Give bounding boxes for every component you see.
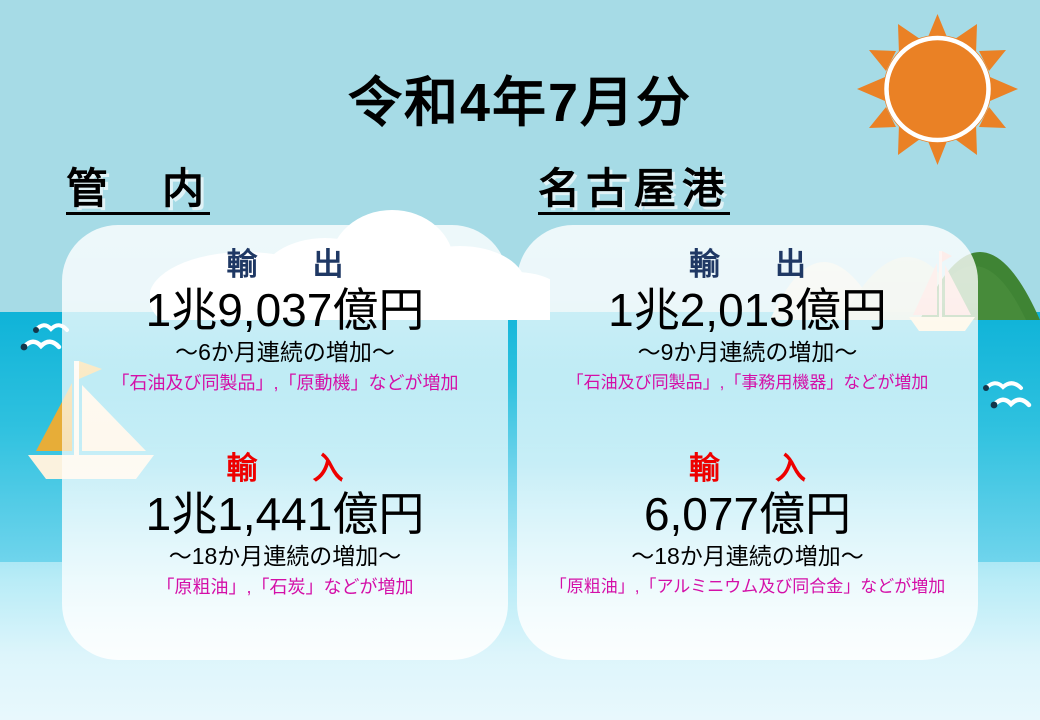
- section-heading-nagoya: 名古屋港: [538, 168, 730, 215]
- export-trend: 〜9か月連続の増加〜: [517, 340, 978, 365]
- section-heading-kannai: 管 内: [66, 168, 210, 215]
- export-block-kannai: 輸 出 1兆9,037億円 〜6か月連続の増加〜 「石油及び同製品」,「原動機」…: [62, 249, 508, 394]
- export-items: 「石油及び同製品」,「原動機」などが増加: [62, 374, 508, 394]
- export-amount: 1兆2,013億円: [517, 286, 978, 336]
- export-label: 輸 出: [62, 249, 508, 280]
- page-title: 令和4年7月分: [0, 76, 1040, 130]
- seagulls-icon: [982, 378, 1038, 418]
- import-block-kannai: 輸 入 1兆1,441億円 〜18か月連続の増加〜 「原粗油」,「石炭」などが増…: [62, 453, 508, 598]
- import-trend: 〜18か月連続の増加〜: [62, 544, 508, 569]
- import-block-nagoya: 輸 入 6,077億円 〜18か月連続の増加〜 「原粗油」,「アルミニウム及び同…: [517, 453, 978, 597]
- import-items: 「原粗油」,「アルミニウム及び同合金」などが増加: [517, 578, 978, 597]
- export-items: 「石油及び同製品」,「事務用機器」などが増加: [517, 374, 978, 393]
- import-amount: 6,077億円: [517, 490, 978, 540]
- export-amount: 1兆9,037億円: [62, 286, 508, 336]
- import-label: 輸 入: [62, 453, 508, 484]
- import-trend: 〜18か月連続の増加〜: [517, 544, 978, 569]
- export-label: 輸 出: [517, 249, 978, 280]
- export-block-nagoya: 輸 出 1兆2,013億円 〜9か月連続の増加〜 「石油及び同製品」,「事務用機…: [517, 249, 978, 393]
- panel-nagoya: 輸 出 1兆2,013億円 〜9か月連続の増加〜 「石油及び同製品」,「事務用機…: [517, 225, 978, 660]
- import-label: 輸 入: [517, 453, 978, 484]
- import-amount: 1兆1,441億円: [62, 490, 508, 540]
- panel-kannai: 輸 出 1兆9,037億円 〜6か月連続の増加〜 「石油及び同製品」,「原動機」…: [62, 225, 508, 660]
- export-trend: 〜6か月連続の増加〜: [62, 340, 508, 365]
- poster-canvas: 令和4年7月分 管 内 名古屋港 輸 出 1兆9,037億円 〜6か月連続の増加…: [0, 0, 1040, 720]
- import-items: 「原粗油」,「石炭」などが増加: [62, 578, 508, 598]
